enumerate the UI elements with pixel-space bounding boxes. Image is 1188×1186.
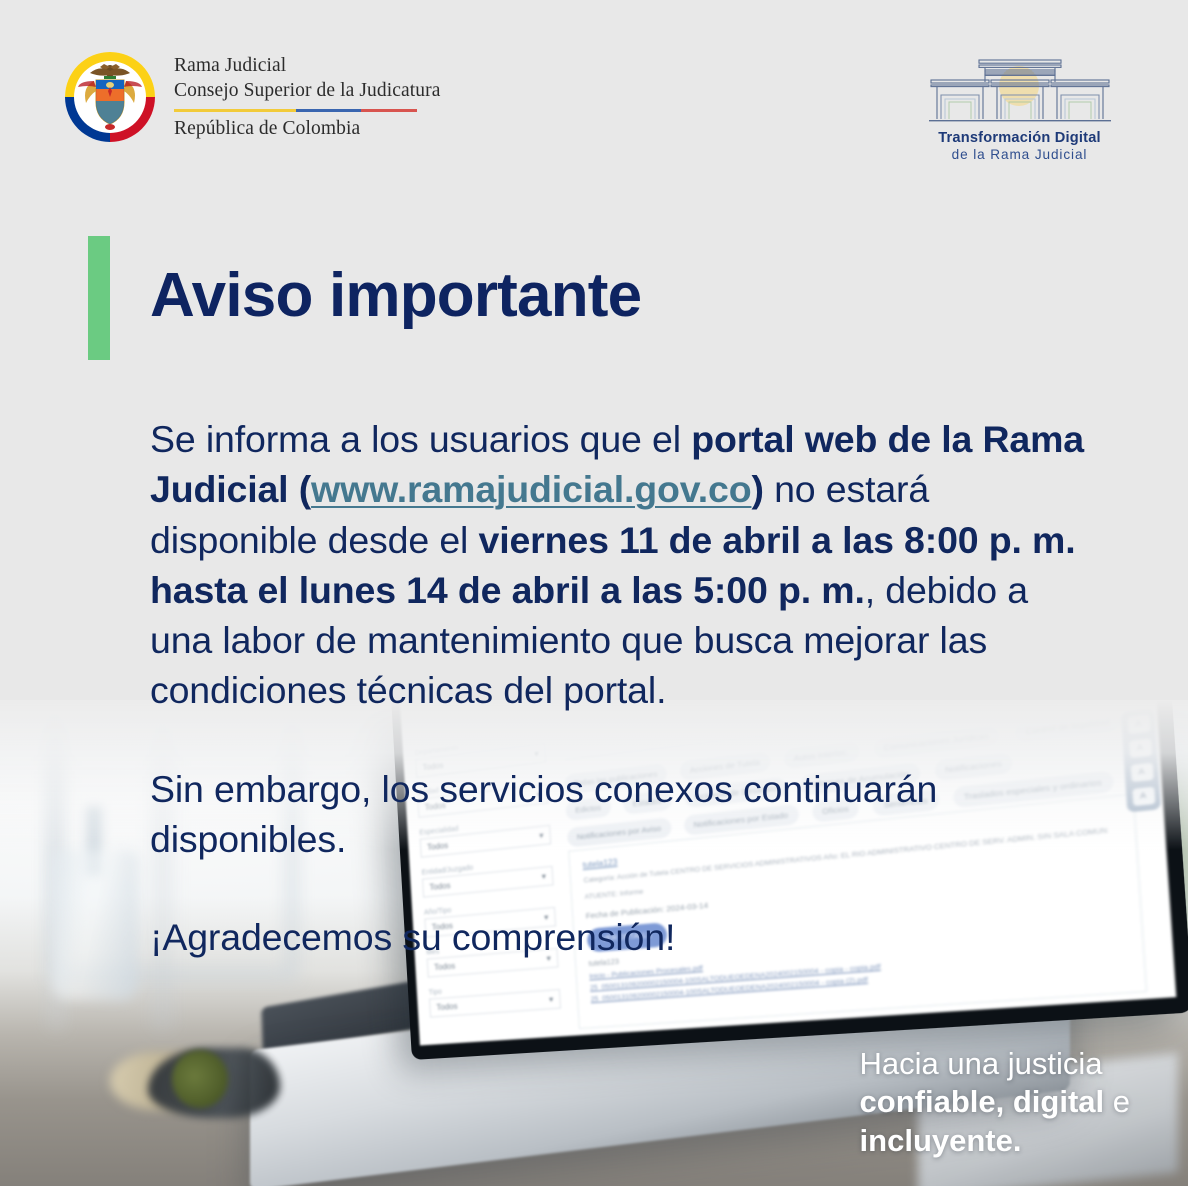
- filter-row: Tipo Todos▾: [428, 980, 561, 1018]
- tagline-rest: e: [1104, 1084, 1130, 1119]
- logo-line-consejo-superior: Consejo Superior de la Judicatura: [174, 79, 440, 104]
- aviso-poster: Publicaciones Procesales BUSCAR Departam…: [0, 0, 1188, 1186]
- announcement-paragraph-1: Se informa a los usuarios que el portal …: [150, 414, 1090, 716]
- poster-header: Rama Judicial Consejo Superior de la Jud…: [0, 0, 1188, 190]
- tagline-bold-1: confiable, digital: [860, 1084, 1105, 1119]
- transformacion-digital-subtitle: de la Rama Judicial: [917, 147, 1122, 162]
- rama-judicial-logo: Rama Judicial Consejo Superior de la Jud…: [60, 47, 440, 147]
- filter-value: Todos: [434, 961, 456, 972]
- chevron-down-icon: ▾: [549, 995, 554, 1005]
- courthouse-icon: [917, 50, 1122, 128]
- colombia-tricolor-divider: [174, 109, 417, 113]
- tricolor-blue: [296, 109, 362, 113]
- glass-jar: [52, 850, 138, 1000]
- logo-line-republica: República de Colombia: [174, 117, 440, 142]
- tricolor-red: [361, 109, 417, 113]
- brand-tagline: Hacia una justicia confiable, digital e …: [860, 1045, 1130, 1160]
- announcement-paragraph-2: Sin embargo, los servicios conexos conti…: [150, 764, 1090, 865]
- tagline-line-2: confiable, digital e: [860, 1083, 1130, 1121]
- page-title: Aviso importante: [150, 260, 641, 337]
- transformacion-digital-logo: Transformación Digital de la Rama Judici…: [917, 50, 1122, 162]
- tricolor-yellow: [174, 109, 296, 113]
- body-text-intro: Se informa a los usuarios que el: [150, 418, 691, 460]
- paragraph-gap: [150, 716, 1090, 764]
- announcement-paragraph-3: ¡Agradecemos su comprensión!: [150, 912, 1090, 962]
- logo-line-rama-judicial: Rama Judicial: [174, 54, 440, 79]
- filter-value: Todos: [436, 1002, 458, 1013]
- paragraph-gap: [150, 864, 1090, 912]
- body-text-paren-close: ): [751, 468, 763, 510]
- tagline-line-3: incluyente.: [860, 1122, 1130, 1160]
- tagline-line-1: Hacia una justicia: [860, 1045, 1130, 1083]
- announcement-body: Se informa a los usuarios que el portal …: [150, 414, 1090, 962]
- desk-object-green: [172, 1050, 228, 1108]
- logo-text-block: Rama Judicial Consejo Superior de la Jud…: [174, 52, 440, 142]
- page-title-block: Aviso importante: [88, 236, 641, 360]
- transformacion-digital-title: Transformación Digital: [917, 130, 1122, 146]
- ramajudicial-link[interactable]: www.ramajudicial.gov.co: [311, 468, 751, 510]
- escudo-colombia-icon: [60, 47, 160, 147]
- title-accent-bar: [88, 236, 110, 360]
